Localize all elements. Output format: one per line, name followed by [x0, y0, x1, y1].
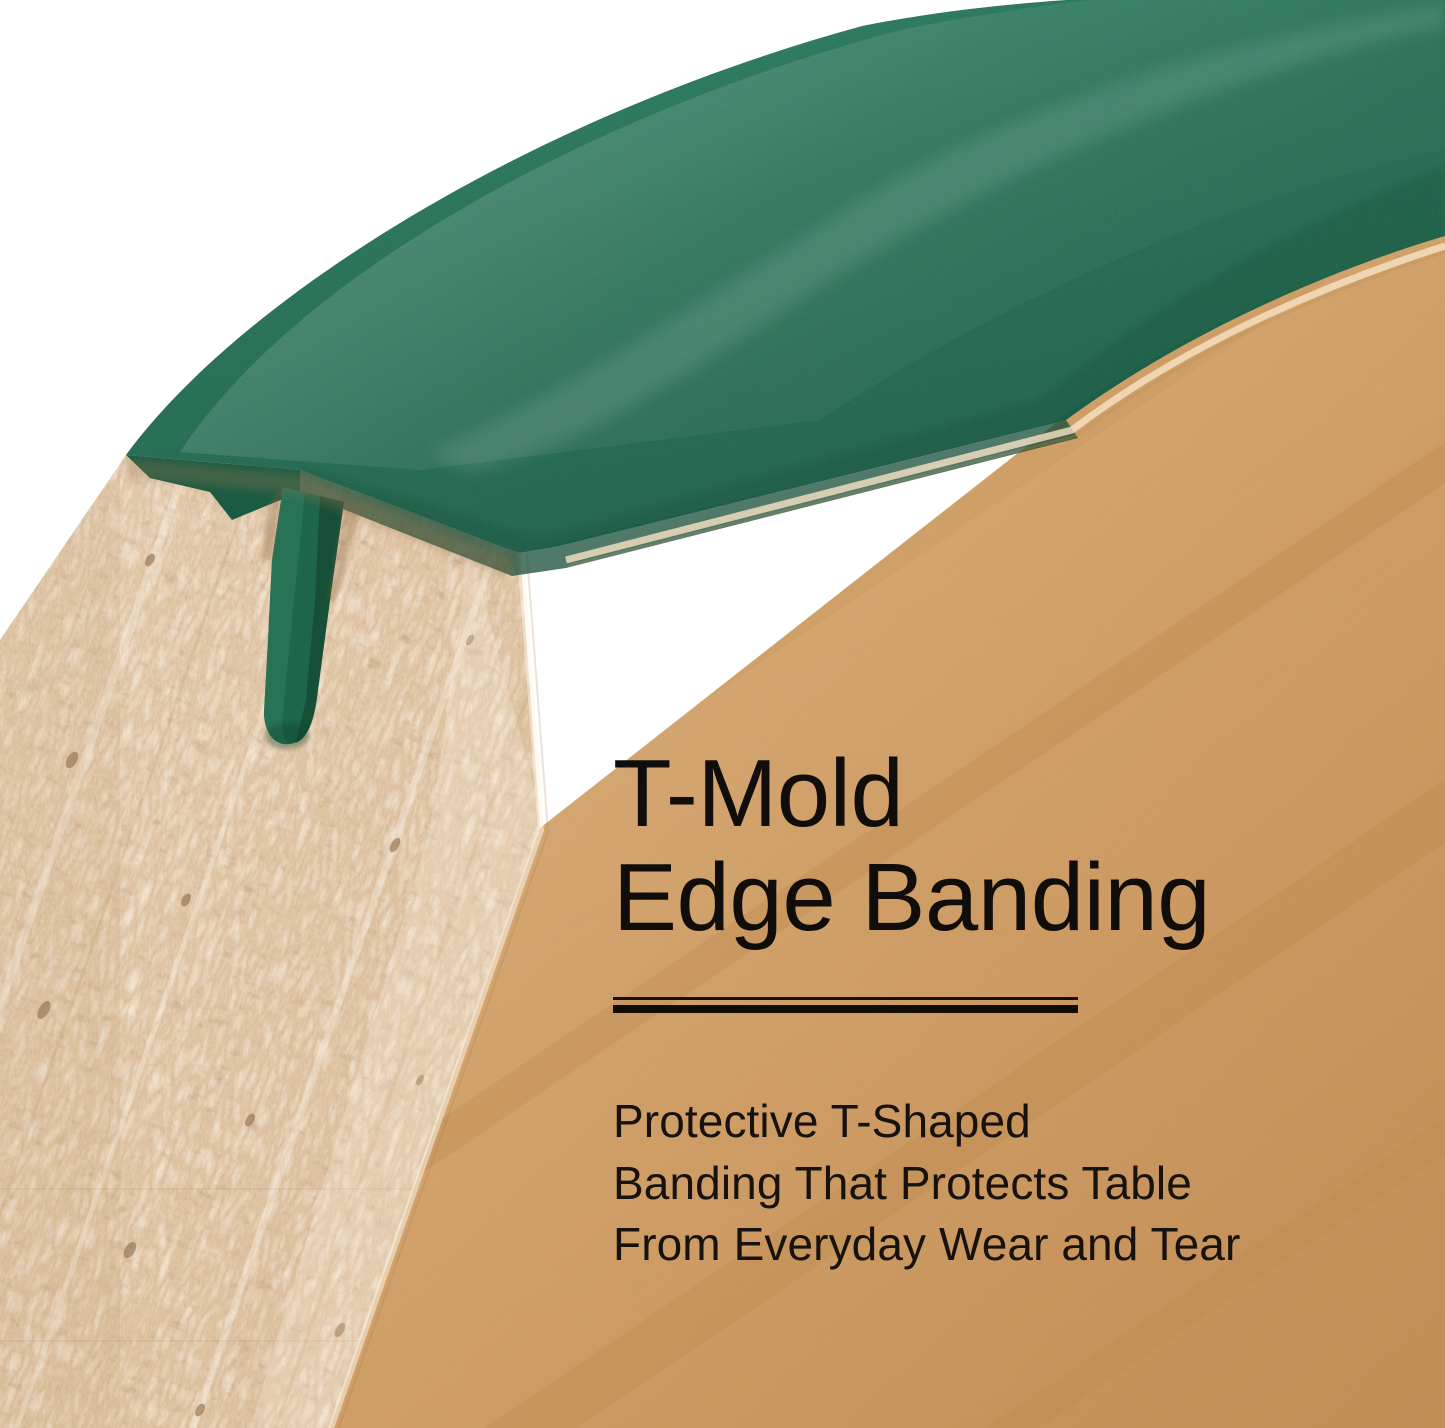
headline-line-2: Edge Banding [613, 844, 1210, 951]
subcopy-line-2: Banding That Protects Table [613, 1157, 1192, 1209]
headline-line-1: T-Mold [613, 740, 903, 847]
subcopy-line-1: Protective T-Shaped [613, 1095, 1031, 1147]
feature-description: Protective T-Shaped Banding That Protect… [613, 1091, 1373, 1275]
subcopy-line-3: From Everyday Wear and Tear [613, 1218, 1240, 1270]
page-title: T-Mold Edge Banding [613, 742, 1373, 949]
divider-thick-rule [613, 1005, 1078, 1013]
marketing-text-block: T-Mold Edge Banding Protective T-Shaped … [613, 742, 1373, 1321]
divider [613, 997, 1078, 1013]
product-image-root: T-Mold Edge Banding Protective T-Shaped … [0, 0, 1445, 1428]
